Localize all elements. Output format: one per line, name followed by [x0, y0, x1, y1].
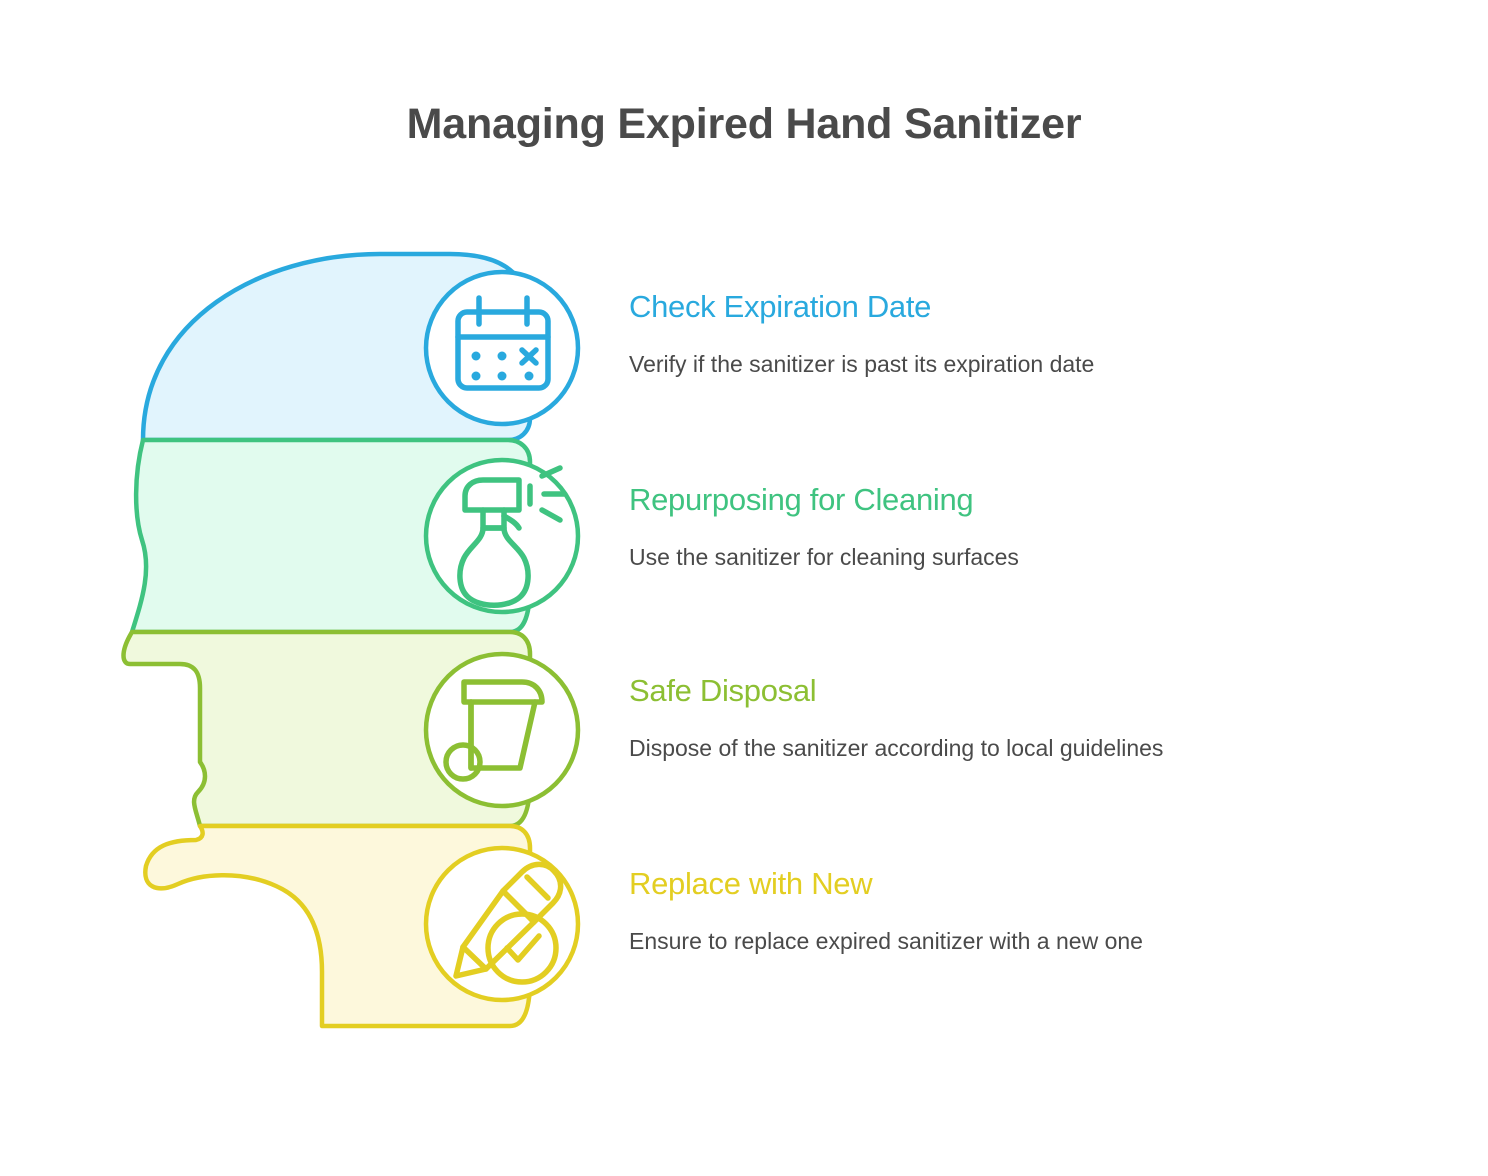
badge-circle-2: [426, 460, 578, 612]
icon-badge-repurposing[interactable]: [426, 460, 578, 612]
page-title: Managing Expired Hand Sanitizer: [0, 100, 1488, 149]
icon-badge-safe-disposal[interactable]: [426, 654, 578, 806]
section-description: Verify if the sanitizer is past its expi…: [629, 350, 1389, 380]
section-list: Check Expiration Date Verify if the sani…: [629, 240, 1389, 1050]
section-replace-with-new: Replace with New Ensure to replace expir…: [629, 867, 1389, 957]
icon-badge-replace-with-new[interactable]: [426, 848, 578, 1000]
section-heading: Check Expiration Date: [629, 290, 1389, 324]
badge-circle-1: [426, 272, 578, 424]
section-heading: Repurposing for Cleaning: [629, 483, 1389, 517]
section-description: Ensure to replace expired sanitizer with…: [629, 927, 1389, 957]
section-description: Use the sanitizer for cleaning surfaces: [629, 543, 1389, 573]
section-repurposing: Repurposing for Cleaning Use the sanitiz…: [629, 483, 1389, 573]
icon-badge-check-expiration[interactable]: [426, 272, 578, 424]
section-check-expiration: Check Expiration Date Verify if the sani…: [629, 290, 1389, 380]
section-description: Dispose of the sanitizer according to lo…: [629, 734, 1389, 764]
section-heading: Replace with New: [629, 867, 1389, 901]
badge-circle-3: [426, 654, 578, 806]
segmented-head-silhouette: [90, 240, 610, 1050]
infographic-canvas: Managing Expired Hand Sanitizer: [0, 0, 1488, 1176]
section-safe-disposal: Safe Disposal Dispose of the sanitizer a…: [629, 674, 1389, 764]
section-heading: Safe Disposal: [629, 674, 1389, 708]
